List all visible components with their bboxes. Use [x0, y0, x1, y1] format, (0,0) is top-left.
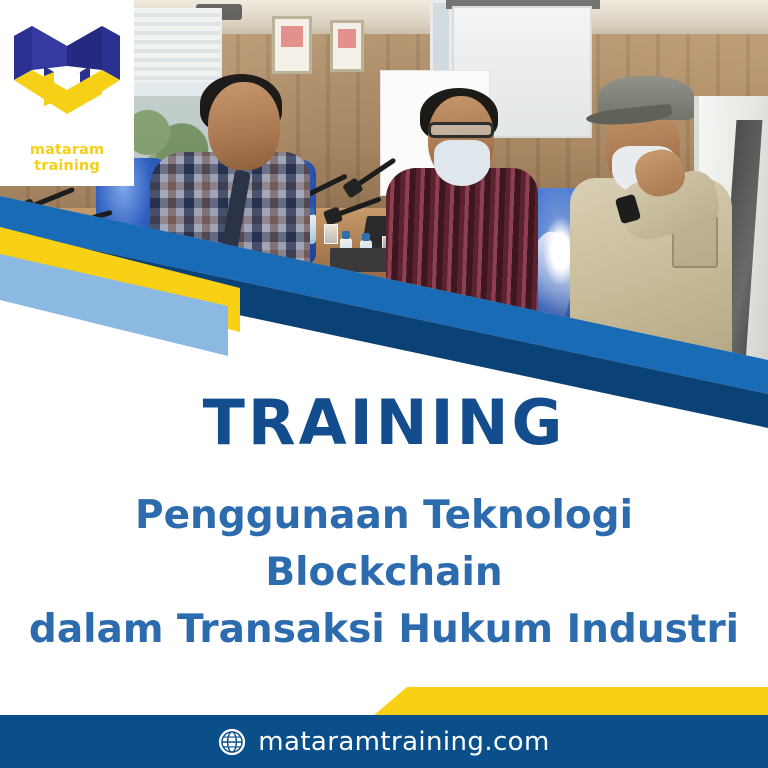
projector-box	[330, 248, 394, 272]
footer-yellow-shape	[373, 687, 768, 716]
logo-plate: mataram training	[0, 0, 134, 186]
wall-poster-1	[272, 16, 312, 74]
logo-wordmark: mataram training	[0, 142, 134, 174]
band-yellow	[0, 227, 240, 332]
footer-bar: mataramtraining.com	[0, 715, 768, 768]
subtitle-line-2: dalam Transaksi Hukum Industri	[28, 602, 740, 659]
drinking-glass	[324, 224, 338, 244]
wall-poster-2	[330, 20, 364, 72]
subtitle-line-1: Penggunaan Teknologi Blockchain	[28, 488, 740, 602]
globe-icon	[218, 728, 246, 756]
mataram-m-logo-icon	[14, 14, 120, 126]
page-title: TRAINING	[0, 392, 768, 454]
band-light-blue	[0, 254, 228, 356]
person-plaid-head	[208, 82, 280, 170]
window-blind	[120, 8, 220, 82]
person-striped-eyeglasses	[428, 122, 494, 138]
person-striped-body	[386, 168, 538, 418]
footer-website-url: mataramtraining.com	[258, 727, 549, 757]
page-subtitle: Penggunaan Teknologi Blockchain dalam Tr…	[28, 488, 740, 659]
training-poster: mataram training TRAINING Penggunaan Tek…	[0, 0, 768, 768]
person-plaid-body	[150, 152, 310, 412]
person-striped-face-mask	[434, 140, 490, 186]
